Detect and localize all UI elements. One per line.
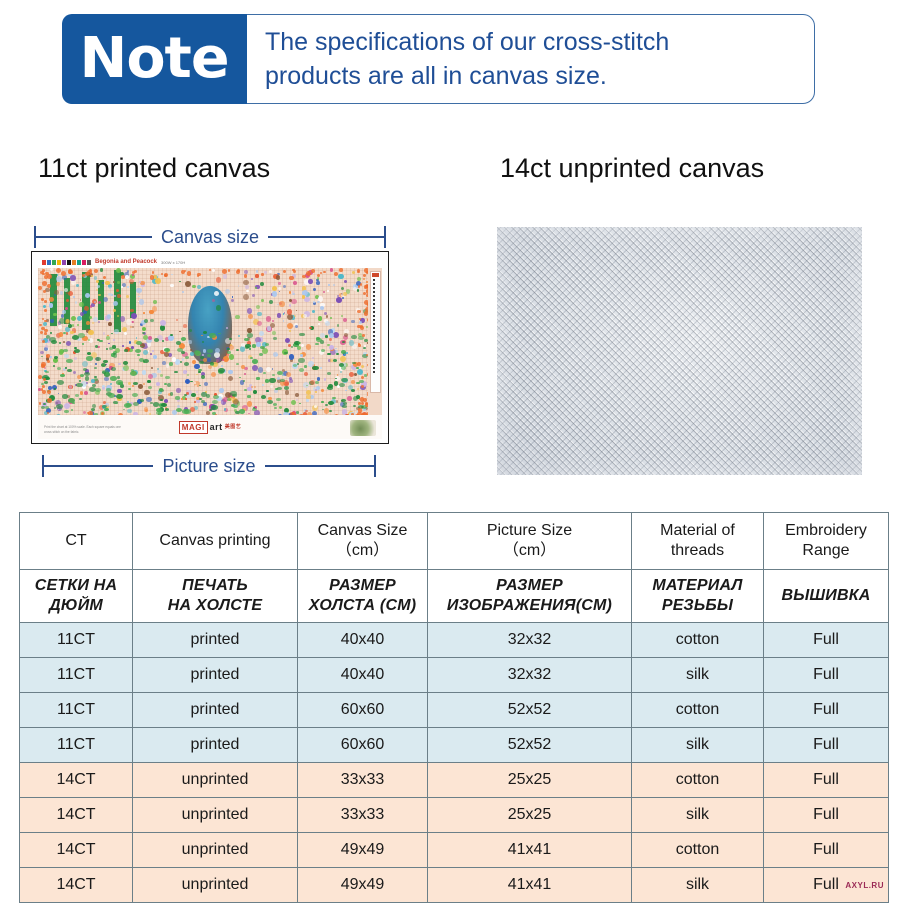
artwork-border-accent [42,340,45,343]
cell-canvas-printing: unprinted [133,763,298,798]
cell-ct: 11CT [20,658,133,693]
artwork-stitch [181,398,183,400]
artwork-border-accent [364,268,368,273]
artwork-stitch [127,286,129,288]
column-header-canvas-printing-label: Canvas printing [159,532,270,549]
artwork-stitch [74,331,76,333]
pattern-fineprint: Print the chart at 100% scale. Each squa… [44,425,124,435]
cell-canvas-size: 49x49 [298,868,428,903]
artwork-foliage [116,394,123,399]
artwork-stitch [329,345,334,350]
printed-canvas-photo: Begonia and Peacock 300W x 170H MAGI art… [31,251,389,444]
artwork-stitch [88,330,93,335]
artwork-stitch [176,319,178,321]
artwork-foliage [44,381,48,384]
artwork-stitch [117,315,119,317]
artwork-stitch [214,291,219,296]
artwork-border-accent [41,298,44,301]
cell-embroidery-range: Full [764,623,889,658]
artwork-stitch [351,320,354,323]
artwork-border-accent [39,324,41,326]
cell-material: cotton [632,693,764,728]
pattern-color-legend [370,271,381,393]
artwork-stitch [351,380,355,384]
cell-canvas-size: 49x49 [298,833,428,868]
cell-material: silk [632,868,764,903]
cell-canvas-printing: printed [133,728,298,763]
table-row: 11CTprinted60x6052x52silkFull [20,728,889,763]
cell-ct: 11CT [20,693,133,728]
artwork-stitch [140,281,145,286]
note-line-1: The specifications of our cross-stitch [265,25,804,60]
artwork-stitch [122,345,124,347]
table-row: 14CTunprinted49x4941x41cottonFull [20,833,889,868]
note-text-block: The specifications of our cross-stitch p… [247,15,814,103]
artwork-border-accent [365,403,368,407]
artwork-stitch [277,313,281,317]
artwork-stitch [343,318,347,322]
artwork-stitch [127,409,131,413]
artwork-stitch [226,327,228,329]
artwork-foliage [108,393,115,398]
cell-material: cotton [632,623,764,658]
cell-canvas-printing: unprinted [133,868,298,903]
artwork-stitch [153,300,157,304]
cell-material: silk [632,728,764,763]
artwork-foliage [62,394,69,399]
artwork-stitch [276,275,280,279]
artwork-stitch [264,271,266,273]
artwork-stitch [273,337,277,341]
artwork-foliage [123,361,128,365]
cell-embroidery-range: Full [764,798,889,833]
cell-material: cotton [632,833,764,868]
artwork-border-accent [364,300,368,305]
column-header-ru-canvas-size-line2: ХОЛСТА (СМ) [298,596,427,616]
artwork-foliage [64,410,69,413]
artwork-foliage [265,379,270,382]
artwork-stitch [243,294,249,300]
artwork-foliage [51,340,57,344]
artwork-stitch [160,374,163,377]
artwork-foliage [252,359,258,363]
artwork-foliage [277,371,283,375]
artwork-stitch [53,313,57,317]
cell-picture-size: 41x41 [428,833,632,868]
artwork-stitch [261,299,264,302]
artwork-foliage [327,372,331,375]
cell-ct: 11CT [20,623,133,658]
artwork-foliage [116,380,122,385]
artwork-stitch [356,395,360,399]
artwork-stitch [270,385,273,388]
cell-picture-size: 32x32 [428,623,632,658]
legend-symbol [373,315,375,317]
legend-symbol [373,295,375,297]
artwork-border-accent [367,392,368,394]
artwork-foliage [227,398,231,401]
table-row: 14CTunprinted33x3325x25silkFull [20,798,889,833]
column-header-ru-picture-size-line1: РАЗМЕР [428,576,631,596]
artwork-stitch [267,326,271,330]
artwork-foliage [272,374,275,376]
column-header-material: Material of threads [632,513,764,570]
artwork-stitch [114,329,119,334]
artwork-stitch [215,348,220,353]
artwork-stitch [223,274,227,278]
artwork-stitch [343,292,347,296]
cell-material: silk [632,658,764,693]
artwork-stitch [341,315,343,317]
artwork-stitch [164,352,169,357]
column-header-ru-range-label: ВЫШИВКА [764,586,888,606]
artwork-foliage [284,386,290,390]
artwork-stitch [324,378,327,381]
artwork-foliage [63,332,66,334]
artwork-stitch [306,399,309,402]
site-watermark: AXYL.RU [845,881,884,890]
artwork-border-accent [293,270,296,273]
artwork-stitch [94,301,96,303]
artwork-border-accent [237,269,240,272]
cell-canvas-size: 33x33 [298,798,428,833]
column-header-picture-size-line1: Picture Size [428,521,631,541]
artwork-foliage [209,333,215,337]
artwork-stitch [84,391,88,395]
table-row: 11CTprinted40x4032x32silkFull [20,658,889,693]
artwork-border-accent [47,398,52,403]
artwork-stitch [367,342,368,344]
column-header-ru-canvas-size-line1: РАЗМЕР [298,576,427,596]
artwork-foliage [261,395,266,399]
pattern-color-swatches [42,260,91,265]
cell-ct: 14CT [20,763,133,798]
artwork-foliage [176,341,181,344]
artwork-border-accent [261,273,263,275]
artwork-stitch [251,278,253,280]
artwork-stitch [231,299,233,301]
artwork-stitch [160,320,166,326]
artwork-stitch [315,391,317,393]
artwork-stitch [75,301,77,303]
artwork-stitch [192,285,195,288]
legend-symbol [373,299,375,301]
artwork-foliage [343,402,347,405]
artwork-foliage [316,338,322,342]
artwork-foliage [91,408,95,411]
artwork-stitch [50,319,54,323]
artwork-border-accent [339,268,343,272]
artwork-foliage [160,399,163,401]
dimension-line-right [268,236,384,238]
artwork-stitch [335,350,337,352]
artwork-stitch [357,369,363,375]
section-title-11ct: 11ct printed canvas [38,153,270,184]
artwork-stitch [316,281,319,284]
artwork-stitch [216,305,222,311]
artwork-border-accent [61,271,66,276]
artwork-foliage [124,349,128,352]
artwork-foliage [269,378,276,383]
artwork-foliage [84,372,90,376]
artwork-foliage [140,399,144,402]
artwork-stitch [194,401,196,403]
artwork-foliage [79,398,82,400]
dimension-end-cap-right [384,226,386,248]
note-line-2: products are all in canvas size. [265,59,804,94]
artwork-border-accent [358,344,360,346]
artwork-foliage [198,371,201,373]
artwork-foliage [175,396,180,399]
artwork-stitch [272,291,277,296]
column-header-ru-printing-line1: ПЕЧАТЬ [133,576,297,596]
artwork-stitch [97,285,99,287]
artwork-stitch [120,316,125,321]
table-row: 14CTunprinted33x3325x25cottonFull [20,763,889,798]
artwork-stitch [68,291,73,296]
artwork-stitch [98,294,100,296]
artwork-stitch [279,406,282,409]
artwork-stitch [272,286,277,291]
artwork-foliage [159,388,163,391]
artwork-stitch [289,304,291,306]
artwork-foliage [280,379,285,382]
artwork-stitch [152,350,154,352]
dimension-line-left [36,236,152,238]
pattern-swatch-6 [72,260,76,265]
artwork-foliage [176,408,182,412]
cell-material: silk [632,798,764,833]
pattern-artwork [38,268,368,415]
artwork-foliage [227,348,230,350]
legend-symbol [373,307,375,309]
artwork-stitch [256,305,260,309]
artwork-stitch [269,270,272,273]
artwork-stitch [59,342,61,344]
artwork-stitch [64,354,69,359]
artwork-stitch [283,285,286,288]
artwork-stitch [142,327,146,331]
artwork-stitch [212,299,215,302]
artwork-stitch [279,301,284,306]
column-header-ru-picture-size: РАЗМЕР ИЗОБРАЖЕНИЯ(СМ) [428,570,632,623]
artwork-foliage [117,376,121,379]
artwork-stitch [349,340,354,345]
artwork-stitch [190,349,192,351]
artwork-border-accent [38,286,42,290]
artwork-stitch [188,340,191,343]
column-header-ru-range: ВЫШИВКА [764,570,889,623]
artwork-stitch [143,312,145,314]
artwork-stitch [253,390,257,394]
artwork-foliage [227,351,231,354]
artwork-stitch [130,309,134,313]
artwork-stitch [308,279,313,284]
artwork-stitch [49,297,54,302]
artwork-stitch [225,289,230,294]
artwork-foliage [56,404,63,409]
legend-symbol [373,303,375,305]
artwork-stitch [102,387,105,390]
artwork-foliage [276,398,281,402]
cell-canvas-printing: printed [133,623,298,658]
legend-symbol [373,279,375,281]
artwork-border-accent [44,332,47,335]
artwork-foliage [184,362,189,366]
column-header-ru-material-line2: РЕЗЬБЫ [632,596,763,616]
column-header-ru-printing: ПЕЧАТЬ НА ХОЛСТЕ [133,570,298,623]
artwork-foliage [273,403,278,406]
artwork-stitch [313,301,315,303]
specification-table: CT Canvas printing Canvas Size （cm） Pict… [19,512,889,903]
artwork-stitch [74,357,76,359]
canvas-size-label: Canvas size [152,228,268,246]
pattern-swatch-3 [57,260,61,265]
artwork-stitch [157,370,160,373]
column-header-picture-size-line2: （cm） [428,541,631,561]
column-header-ru-ct-line1: СЕТКИ НА [20,576,132,596]
pattern-corner-stamp [350,420,376,436]
pattern-swatch-2 [52,260,56,265]
legend-symbol [373,343,375,345]
artwork-stitch [301,344,304,347]
artwork-border-accent [362,334,365,337]
artwork-foliage [57,367,61,370]
artwork-border-accent [38,375,42,379]
artwork-stitch [138,296,140,298]
artwork-stitch [229,354,235,360]
cell-picture-size: 52x52 [428,728,632,763]
artwork-stitch [66,341,71,346]
artwork-foliage [194,350,200,354]
cell-canvas-printing: printed [133,693,298,728]
artwork-stitch [211,372,216,377]
artwork-stitch [272,331,276,335]
artwork-stitch [287,309,292,314]
artwork-foliage [191,393,196,397]
legend-symbol [373,339,375,341]
artwork-foliage [143,359,149,363]
legend-symbol [373,335,375,337]
artwork-foliage [63,349,67,352]
artwork-stitch [70,331,73,334]
artwork-stitch [314,405,317,408]
column-header-ru-material: МАТЕРИАЛ РЕЗЬБЫ [632,570,764,623]
artwork-foliage [82,343,85,345]
artwork-border-accent [365,284,368,289]
cell-embroidery-range: Full [764,728,889,763]
artwork-foliage [247,395,250,397]
artwork-stitch [306,344,311,349]
artwork-stitch [336,297,342,303]
artwork-foliage [327,386,332,390]
artwork-stitch [313,288,316,291]
artwork-foliage [113,353,116,355]
artwork-stitch [70,275,75,280]
artwork-foliage [201,400,205,403]
artwork-stitch [342,297,344,299]
artwork-border-accent [360,283,363,286]
artwork-stitch [56,276,62,282]
artwork-foliage [66,359,72,363]
artwork-stitch [136,337,138,339]
artwork-stitch [291,400,296,405]
artwork-stitch [313,387,318,392]
artwork-stitch [126,319,132,325]
artwork-foliage [284,352,288,355]
artwork-stitch [257,312,262,317]
column-header-canvas-size: Canvas Size （cm） [298,513,428,570]
canvas-size-dimension: Canvas size [34,226,386,248]
artwork-stitch [162,361,166,365]
artwork-stitch [190,407,195,412]
artwork-stitch [349,372,354,377]
artwork-stitch [60,291,64,295]
column-header-embroidery-range-line2: Range [764,541,888,561]
legend-symbol [373,319,375,321]
cell-embroidery-range: Full [764,693,889,728]
artwork-stitch [255,274,258,277]
artwork-stitch [183,370,187,374]
artwork-stitch [45,345,48,348]
artwork-stitch [266,367,271,372]
artwork-border-accent [39,402,41,404]
legend-symbol [373,371,375,373]
artwork-foliage [277,387,282,390]
artwork-stitch [147,380,150,383]
artwork-foliage [72,335,79,340]
artwork-foliage [57,380,64,385]
artwork-foliage [199,385,201,387]
artwork-foliage [102,405,107,408]
artwork-foliage [296,411,300,414]
picture-size-dimension: Picture size [42,455,376,477]
artwork-stitch [144,390,149,395]
cell-canvas-printing: unprinted [133,798,298,833]
artwork-border-accent [43,290,46,293]
artwork-foliage [207,349,212,353]
pattern-swatch-7 [77,260,81,265]
artwork-stitch [105,281,109,285]
artwork-stitch [118,363,120,365]
pattern-swatch-1 [47,260,51,265]
artwork-foliage [86,356,92,361]
column-header-ru-ct: СЕТКИ НА ДЮЙМ [20,570,133,623]
pattern-subtitle: 300W x 170H [161,260,185,265]
table-header-row-english: CT Canvas printing Canvas Size （cm） Pict… [20,513,889,570]
legend-symbol [373,359,375,361]
artwork-stitch [297,363,299,365]
artwork-border-accent [41,362,46,367]
artwork-foliage [111,367,116,370]
artwork-foliage [203,331,207,334]
artwork-stitch [123,365,129,371]
artwork-stitch [247,328,251,332]
artwork-stitch [245,285,249,289]
legend-symbol [373,363,375,365]
column-header-picture-size: Picture Size （cm） [428,513,632,570]
brand-cn: 美图艺 [225,425,242,430]
column-header-canvas-size-line1: Canvas Size [298,521,427,541]
artwork-foliage [45,406,49,409]
artwork-stitch [251,386,253,388]
artwork-stitch [258,367,263,372]
artwork-stitch [304,297,309,302]
cell-picture-size: 25x25 [428,763,632,798]
artwork-border-accent [209,269,211,271]
pattern-swatch-0 [42,260,46,265]
column-header-ru-printing-line2: НА ХОЛСТЕ [133,596,297,616]
